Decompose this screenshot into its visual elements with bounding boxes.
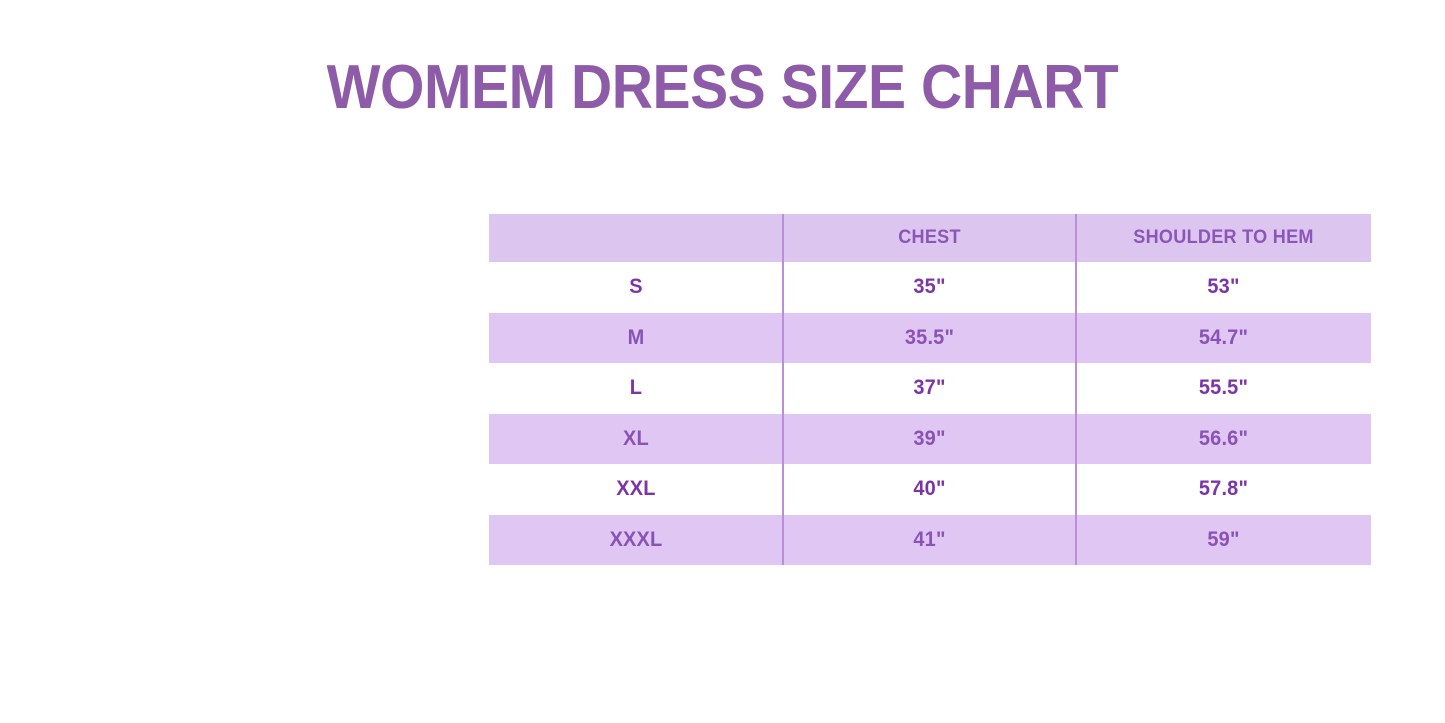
table-row: XXL 40" 57.8"	[489, 464, 1371, 515]
cell-size: XXXL	[496, 515, 775, 566]
table-header-row: CHEST SHOULDER TO HEM	[489, 214, 1371, 262]
cell-chest: 40"	[790, 464, 1068, 515]
cell-chest: 35"	[790, 262, 1068, 313]
table-row: XXXL 41" 59"	[489, 515, 1371, 566]
page-title: WOMEM DRESS SIZE CHART	[58, 52, 1387, 124]
cell-size: L	[496, 363, 775, 414]
cell-size: XXL	[496, 464, 775, 515]
cell-shoulder-to-hem: 59"	[1083, 515, 1363, 566]
cell-size: XL	[496, 414, 775, 465]
cell-shoulder-to-hem: 53"	[1083, 262, 1363, 313]
table-row: S 35" 53"	[489, 262, 1371, 313]
cell-shoulder-to-hem: 54.7"	[1083, 313, 1363, 364]
cell-shoulder-to-hem: 57.8"	[1083, 464, 1363, 515]
cell-shoulder-to-hem: 56.6"	[1083, 414, 1363, 465]
table-row: XL 39" 56.6"	[489, 414, 1371, 465]
cell-shoulder-to-hem: 55.5"	[1083, 363, 1363, 414]
table-row: L 37" 55.5"	[489, 363, 1371, 414]
cell-size: M	[496, 313, 775, 364]
cell-chest: 35.5"	[790, 313, 1068, 364]
table-row: M 35.5" 54.7"	[489, 313, 1371, 364]
header-cell-shoulder-to-hem: SHOULDER TO HEM	[1083, 214, 1363, 262]
cell-chest: 41"	[790, 515, 1068, 566]
cell-chest: 39"	[790, 414, 1068, 465]
cell-size: S	[496, 262, 775, 313]
header-cell-chest: CHEST	[790, 214, 1068, 262]
header-cell-size	[496, 214, 775, 262]
cell-chest: 37"	[790, 363, 1068, 414]
size-chart-table: CHEST SHOULDER TO HEM S 35" 53" M 35.5" …	[489, 214, 1371, 565]
size-chart-canvas: WOMEM DRESS SIZE CHART CHEST SHOULDER TO…	[0, 0, 1445, 723]
